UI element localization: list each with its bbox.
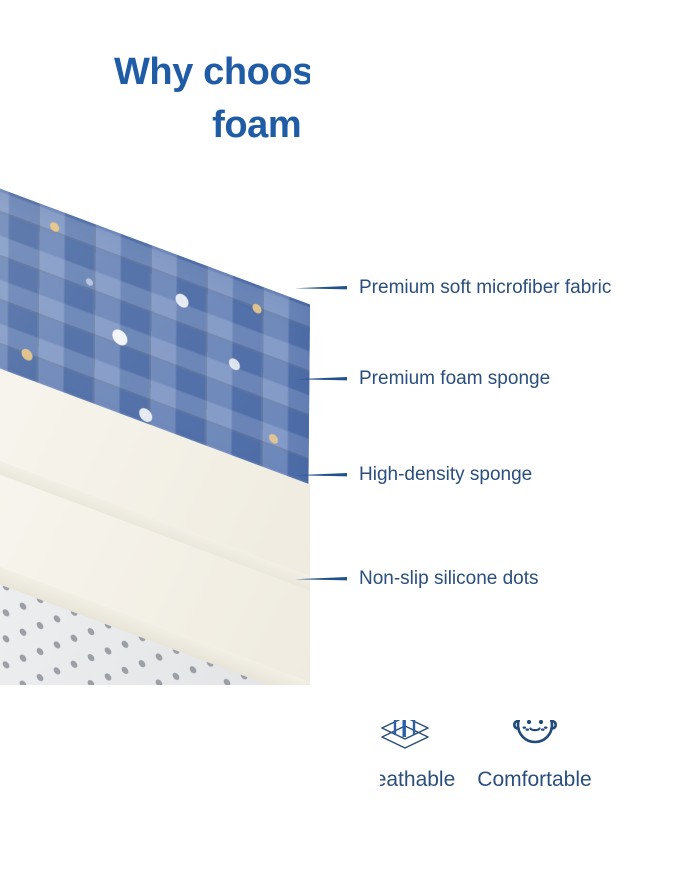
leader-line-icon [295,374,347,384]
callout-label-premium-foam: Premium foam sponge [359,368,550,390]
leader-line-icon [295,470,347,480]
callout-label-high-density-sponge: High-density sponge [359,464,532,486]
callout-premium-foam: Premium foam sponge [295,368,550,390]
mattress-layers-illustration [0,140,679,700]
leader-line-icon [295,574,347,584]
callout-high-density-sponge: High-density sponge [295,464,532,486]
callout-label-microfiber-fabric: Premium soft microfiber fabric [359,277,611,299]
illustration-bottom-mask [0,685,380,885]
callout-label-silicone-dots: Non-slip silicone dots [359,568,539,590]
callout-silicone-dots: Non-slip silicone dots [295,568,539,590]
illustration-right-mask [310,0,679,720]
leader-line-icon [295,283,347,293]
callout-microfiber-fabric: Premium soft microfiber fabric [295,277,611,299]
feature-label-comfortable: Comfortable [477,768,591,792]
